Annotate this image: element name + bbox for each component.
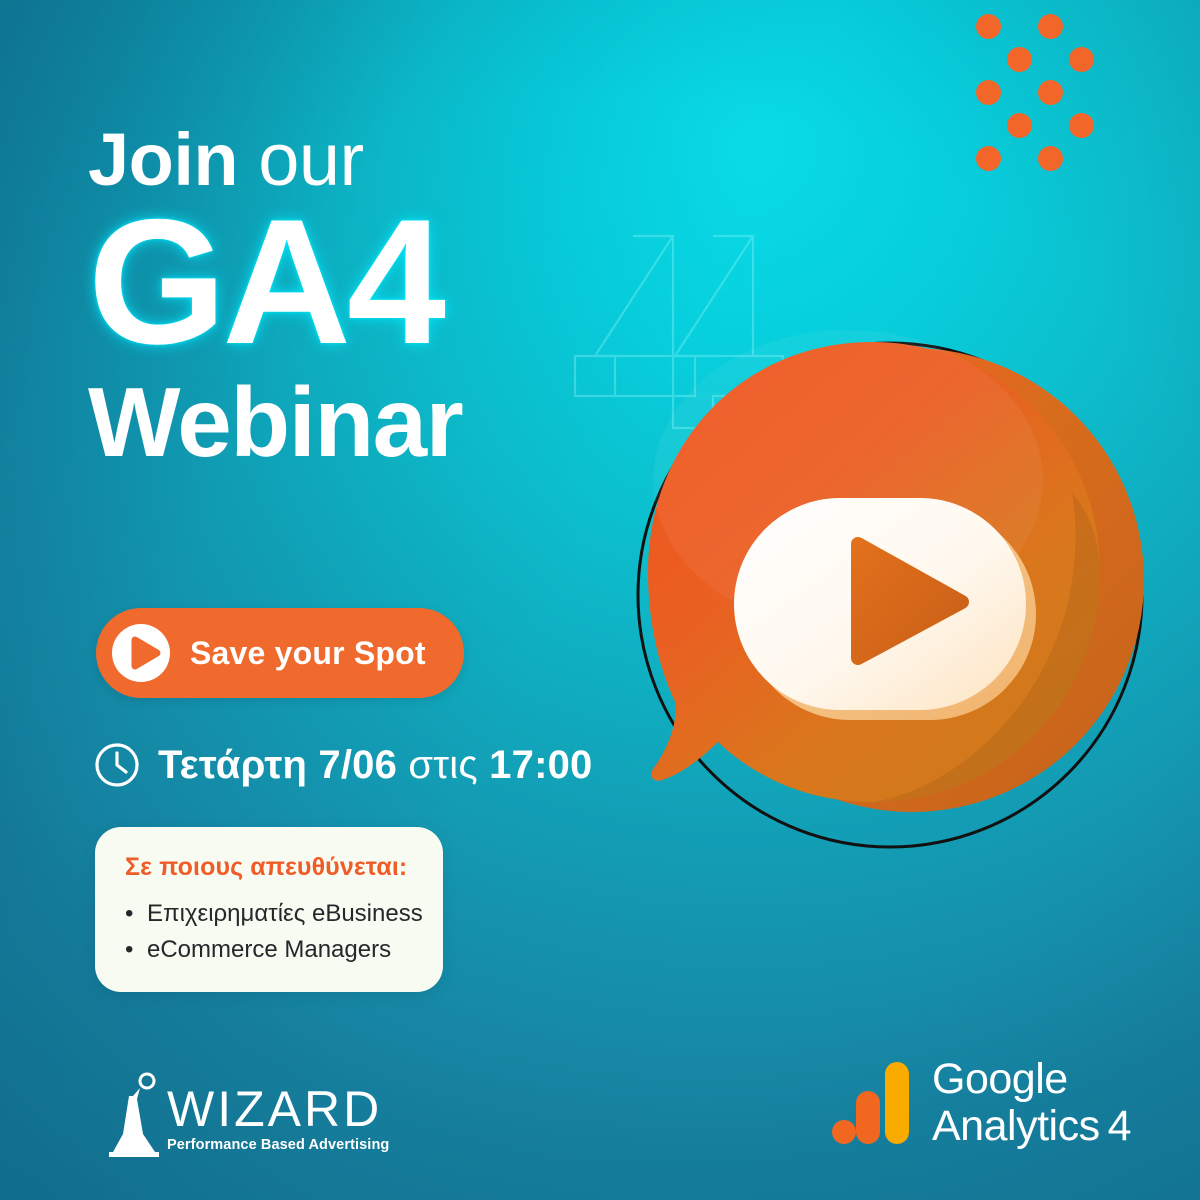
- google-analytics-wordmark: Google Analytics4: [932, 1058, 1131, 1148]
- pattern-dot: [976, 14, 1001, 39]
- pattern-dot: [1007, 47, 1032, 72]
- save-your-spot-label: Save your Spot: [190, 635, 426, 672]
- pattern-dot: [976, 80, 1001, 105]
- save-your-spot-button[interactable]: Save your Spot: [96, 608, 464, 698]
- pattern-dot: [1007, 113, 1032, 138]
- pattern-dot: [1069, 113, 1094, 138]
- ga-version-number: 4: [1108, 1102, 1131, 1150]
- pattern-dot: [1038, 146, 1063, 171]
- headline-ga4: GA4: [88, 196, 708, 368]
- pattern-dot: [1069, 47, 1094, 72]
- headline-webinar: Webinar: [88, 370, 708, 474]
- pattern-dot: [976, 146, 1001, 171]
- webinar-day: Τετάρτη 7/06: [158, 743, 397, 787]
- webinar-connector: στις: [408, 743, 477, 787]
- ga-google-text: Google: [932, 1058, 1131, 1101]
- ga-analytics-text: Analytics: [932, 1102, 1100, 1150]
- audience-card: Σε ποιους απευθύνεται: Επιχειρηματίες eB…: [95, 827, 443, 992]
- wizard-wordmark: WIZARD Performance Based Advertising: [167, 1084, 389, 1153]
- google-analytics-bars-icon: [832, 1061, 910, 1145]
- headline-block: Join our GA4 Webinar: [88, 118, 708, 474]
- wizard-tagline: Performance Based Advertising: [167, 1138, 389, 1153]
- webinar-datetime-text: Τετάρτη 7/06 στις 17:00: [158, 743, 592, 788]
- play-icon: [110, 622, 172, 684]
- pattern-dot: [1038, 80, 1063, 105]
- wizard-name: WIZARD: [167, 1084, 389, 1134]
- clock-icon: [94, 742, 140, 788]
- list-item: Επιχειρηματίες eBusiness: [125, 896, 417, 932]
- wizard-mark-icon: [103, 1072, 161, 1164]
- audience-card-title: Σε ποιους απευθύνεται:: [125, 853, 417, 882]
- google-analytics-logo: Google Analytics4: [832, 1058, 1131, 1148]
- list-item: eCommerce Managers: [125, 932, 417, 968]
- audience-list: Επιχειρηματίες eBusiness eCommerce Manag…: [125, 896, 417, 968]
- webinar-time: 17:00: [489, 743, 592, 787]
- pattern-dot: [1038, 14, 1063, 39]
- wizard-logo: WIZARD Performance Based Advertising: [103, 1072, 389, 1164]
- webinar-promo-poster: Join our GA4 Webinar Save your Spot Τετά…: [0, 0, 1200, 1200]
- ga-analytics-line: Analytics4: [932, 1105, 1131, 1148]
- webinar-datetime: Τετάρτη 7/06 στις 17:00: [94, 742, 592, 788]
- dot-grid-pattern: [958, 0, 1148, 165]
